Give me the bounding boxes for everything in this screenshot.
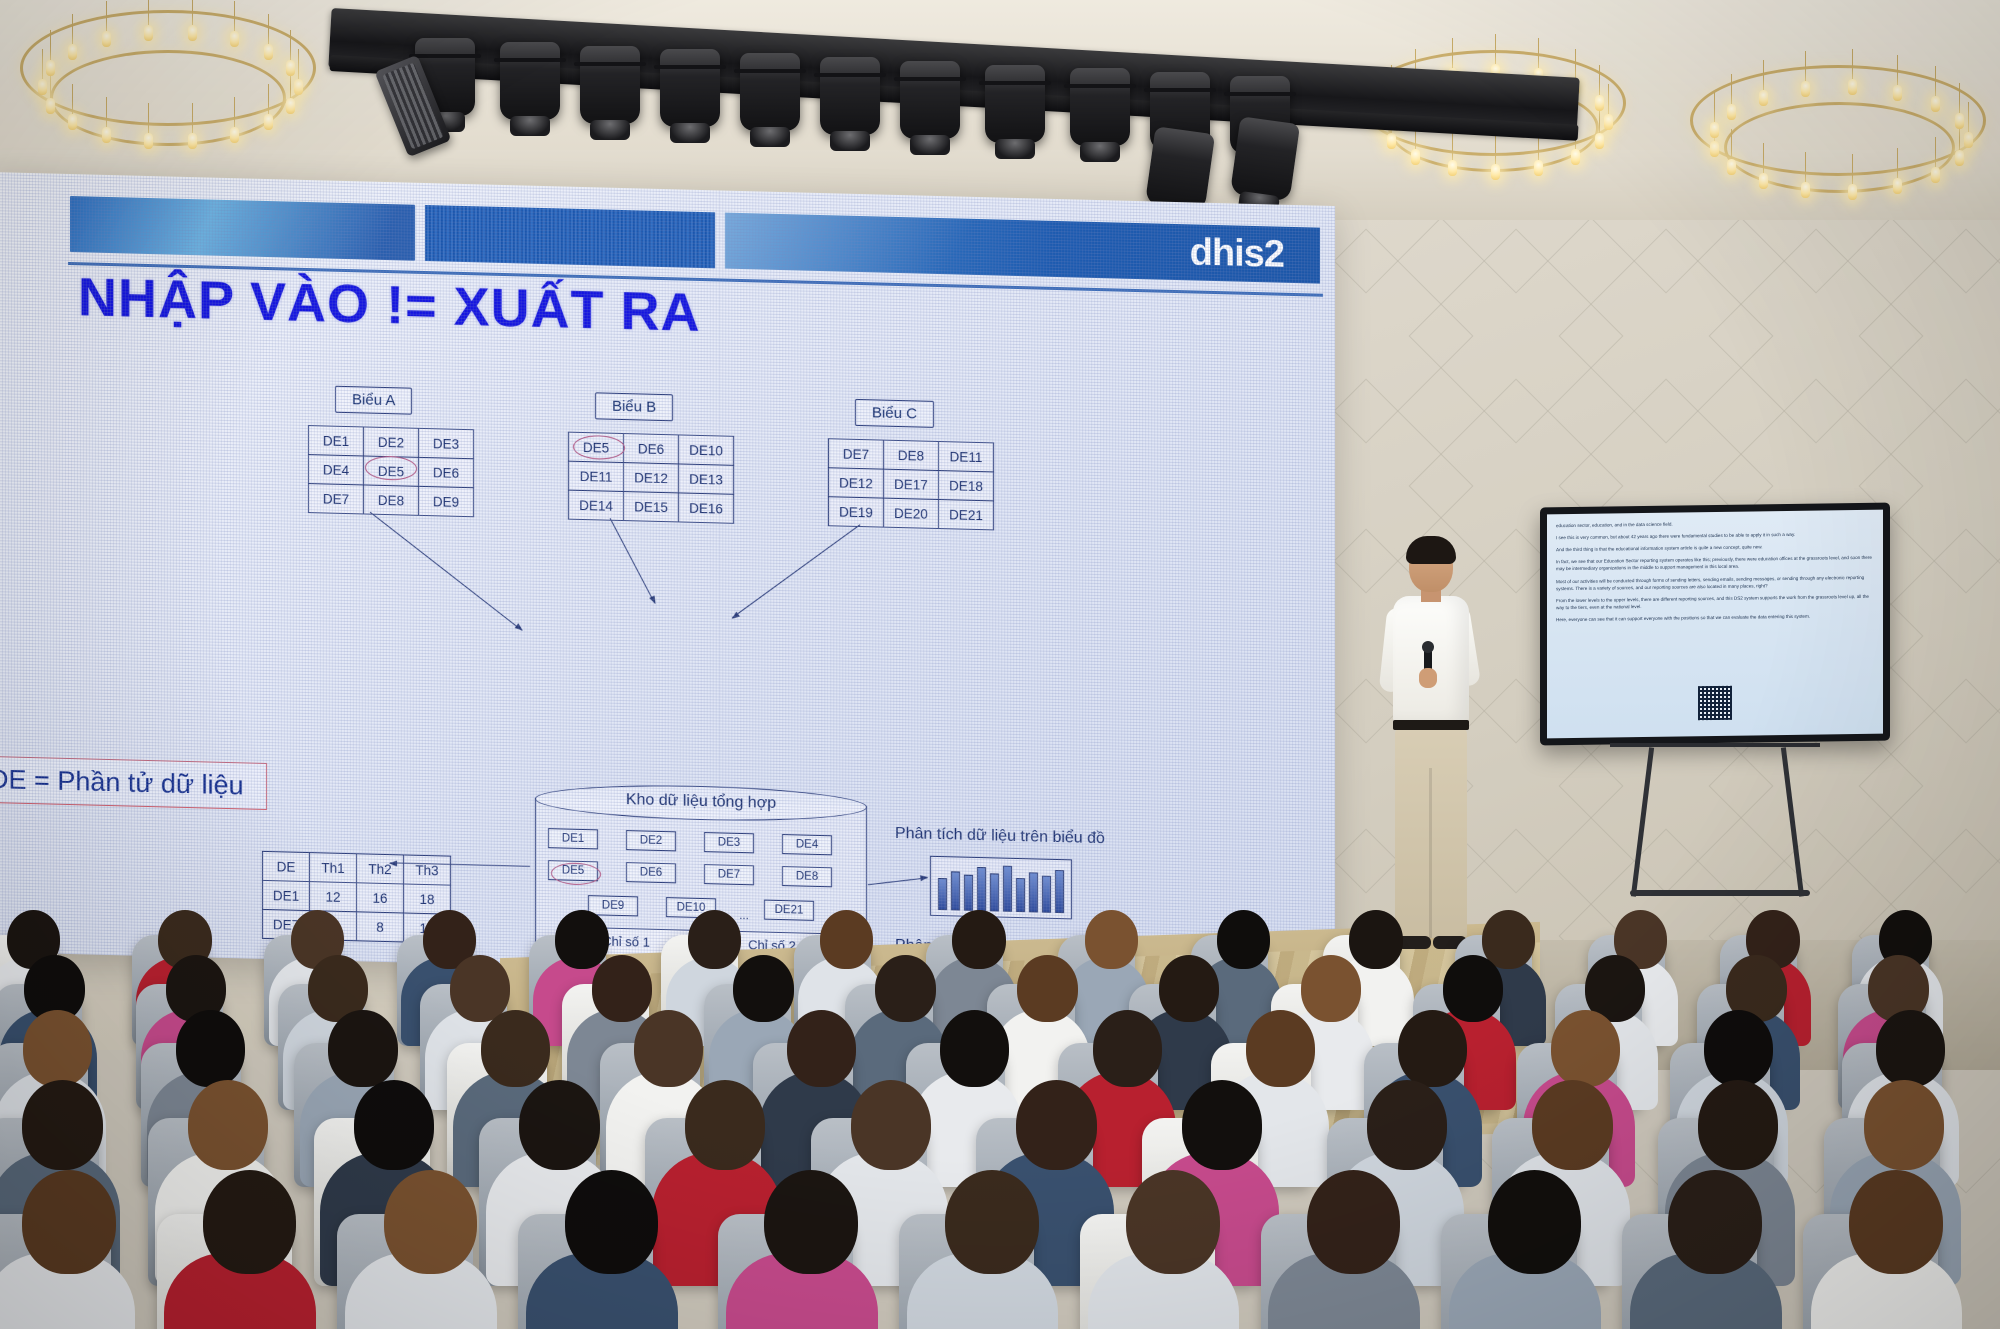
chandelier-wire: [234, 97, 235, 127]
audience-head: [952, 910, 1005, 969]
table-cell: DE9: [419, 486, 474, 516]
light-yoke: [979, 81, 1051, 85]
light-yoke: [894, 77, 966, 81]
table-row: DE7DE8DE9: [309, 484, 474, 517]
chandelier-wire: [1731, 129, 1732, 159]
table-c: DE7DE8DE11DE12DE17DE18DE19DE20DE21: [828, 438, 994, 530]
audience-head: [188, 1080, 269, 1170]
presenter-hair: [1406, 536, 1456, 564]
light-bulb: [1931, 96, 1940, 112]
table-cell: DE15: [624, 492, 679, 522]
chandelier: [20, 0, 320, 160]
audience-head: [1016, 1080, 1097, 1170]
caption-table-a: Biểu A: [335, 386, 412, 415]
table-cell: DE1: [309, 426, 364, 456]
light-bulb: [230, 31, 239, 47]
light-bulb: [1448, 160, 1457, 176]
audience-head: [1668, 1170, 1762, 1274]
chandelier-wire: [298, 49, 299, 79]
chandelier-wire: [1452, 38, 1453, 68]
audience-head: [1307, 1170, 1401, 1274]
warehouse-data-element: DE4: [782, 834, 832, 855]
table-row: DE4DE5DE6: [309, 455, 474, 488]
chandelier-wire: [1495, 34, 1496, 64]
light-bulb: [188, 25, 197, 41]
light-yoke: [494, 58, 566, 62]
tv-caption-line: In fact, we see that our Education Secto…: [1556, 554, 1874, 573]
stage-light: [1070, 68, 1130, 146]
light-yoke: [574, 62, 646, 66]
tv-stand-bar: [1610, 743, 1820, 747]
light-bulb: [1801, 182, 1810, 198]
caption-table-b: Biểu B: [595, 392, 673, 421]
chandelier-wire: [192, 103, 193, 133]
chandelier-wire: [1935, 66, 1936, 96]
audience-member: [1821, 1170, 1951, 1329]
slide-content: dhis2 NHẬP VÀO != XUẤT RA Biểu A Biểu B …: [0, 172, 1335, 986]
audience-head: [1488, 1170, 1582, 1274]
chandelier-wire: [42, 49, 43, 79]
light-bulb: [1411, 149, 1420, 165]
projection-screen: dhis2 NHẬP VÀO != XUẤT RA Biểu A Biểu B …: [0, 172, 1335, 986]
light-bulb: [1893, 85, 1902, 101]
qr-code-icon: [1698, 686, 1732, 720]
audience: [0, 870, 2000, 1329]
light-bulb: [1931, 167, 1940, 183]
table-row: DE5DE6DE10: [569, 432, 734, 465]
audience-head: [1698, 1080, 1779, 1170]
audience-member: [1640, 1170, 1770, 1329]
table-cell: DE7: [829, 439, 884, 469]
light-bulb: [188, 133, 197, 149]
photo-scene: dhis2 NHẬP VÀO != XUẤT RA Biểu A Biểu B …: [0, 0, 2000, 1329]
light-bulb: [264, 44, 273, 60]
light-bulb: [102, 127, 111, 143]
light-bulb: [1491, 164, 1500, 180]
chandelier-wire: [1968, 102, 1969, 132]
table-cell: DE18: [939, 471, 994, 501]
audience-head: [945, 1170, 1039, 1274]
audience-member: [175, 1170, 305, 1329]
tv-screen-content: education sector, education, and in the …: [1547, 510, 1883, 739]
arrow-c-to-warehouse: [732, 524, 860, 618]
light-bulb: [1801, 81, 1810, 97]
chandelier-wire: [234, 1, 235, 31]
chandelier-wire: [1538, 38, 1539, 68]
audience-head: [354, 1080, 435, 1170]
audience-head: [1159, 955, 1219, 1022]
audience-head: [1876, 1010, 1945, 1087]
light-yoke: [814, 73, 886, 77]
chandelier-wire: [268, 84, 269, 114]
tv-caption-line: education sector, education, and in the …: [1556, 518, 1874, 530]
stage-light: [740, 53, 800, 131]
table-cell: DE13: [679, 464, 734, 494]
chandelier-wire: [148, 0, 149, 25]
audience-head: [1246, 1010, 1315, 1087]
light-bulb: [1710, 122, 1719, 138]
light-bulb: [38, 79, 47, 95]
chandelier-wire: [1731, 74, 1732, 104]
light-bulb: [294, 79, 303, 95]
light-bulb: [1848, 184, 1857, 200]
audience-head: [1126, 1170, 1220, 1274]
chandelier-wire: [1897, 148, 1898, 178]
stage-light: [900, 61, 960, 139]
chandelier-wire: [1805, 51, 1806, 81]
tv-caption-line: I see this is very common, but about 42 …: [1556, 530, 1874, 542]
chandelier-wire: [1852, 154, 1853, 184]
chandelier-wire: [1805, 152, 1806, 182]
audience-head: [519, 1080, 600, 1170]
audience-head: [481, 1010, 550, 1087]
light-yoke: [409, 54, 481, 58]
light-yoke: [1064, 84, 1136, 88]
audience-head: [1367, 1080, 1448, 1170]
chandelier-wire: [50, 30, 51, 60]
chandelier-wire: [1763, 143, 1764, 173]
arrow-a-to-warehouse: [370, 512, 522, 631]
audience-head: [764, 1170, 858, 1274]
light-bulb: [1893, 178, 1902, 194]
caption-table-c: Biểu C: [855, 399, 934, 428]
table-cell: DE21: [939, 500, 994, 530]
light-bulb: [1534, 160, 1543, 176]
table-cell: DE14: [569, 490, 624, 520]
light-bulb: [286, 98, 295, 114]
table-cell: DE8: [884, 440, 939, 470]
audience-head: [1704, 1010, 1773, 1087]
audience-member: [1460, 1170, 1590, 1329]
chandelier-wire: [1852, 49, 1853, 79]
audience-head: [1532, 1080, 1613, 1170]
table-cell: DE16: [679, 493, 734, 523]
stage-light: [820, 57, 880, 135]
audience-head: [23, 1010, 92, 1087]
audience-head: [203, 1170, 297, 1274]
light-bulb: [68, 114, 77, 130]
chandelier-wire: [148, 103, 149, 133]
tv-caption-line: Most of our activities will be conducted…: [1556, 573, 1874, 592]
table-cell: DE11: [939, 442, 994, 472]
light-bulb: [1848, 79, 1857, 95]
audience-head: [685, 1080, 766, 1170]
chandelier-wire: [72, 84, 73, 114]
stage-light: [660, 49, 720, 127]
light-bulb: [1964, 132, 1973, 148]
stage-light: [580, 46, 640, 124]
audience-member: [536, 1170, 666, 1329]
audience-member: [0, 1170, 124, 1329]
table-row: DE7DE8DE11: [829, 439, 994, 472]
light-bulb: [68, 44, 77, 60]
audience-head: [1093, 1010, 1162, 1087]
audience-head: [1182, 1080, 1263, 1170]
audience-head: [565, 1170, 659, 1274]
chandelier-ring: [50, 50, 286, 146]
stage-light: [1230, 116, 1300, 202]
table-b: DE5DE6DE10DE11DE12DE13DE14DE15DE16: [568, 432, 734, 524]
audience-head: [176, 1010, 245, 1087]
audience-head: [1551, 1010, 1620, 1087]
tv-caption-line: From the lower levels to the upper level…: [1556, 593, 1874, 612]
light-bulb: [46, 60, 55, 76]
chandelier-wire: [1935, 137, 1936, 167]
stage-light: [985, 65, 1045, 143]
table-cell: DE12: [624, 463, 679, 493]
stage-light: [1145, 126, 1215, 212]
audience-head: [1849, 1170, 1943, 1274]
table-cell: DE8: [364, 485, 419, 515]
table-cell: DE12: [829, 468, 884, 498]
table-row: DE19DE20DE21: [829, 497, 994, 530]
chandelier-wire: [1897, 55, 1898, 85]
tv-caption-line: Here, everyone can see that it can suppo…: [1556, 612, 1874, 624]
table-cell: DE5: [364, 456, 419, 486]
presenter-belt: [1393, 720, 1469, 730]
audience-head: [22, 1080, 103, 1170]
audience-member: [1098, 1170, 1228, 1329]
table-row: DE1DE2DE3: [309, 426, 474, 459]
light-bulb: [1727, 159, 1736, 175]
audience-head: [384, 1170, 478, 1274]
banner-image-left: [70, 196, 415, 261]
light-bulb: [1604, 114, 1613, 130]
audience-head: [1864, 1080, 1945, 1170]
audience-head: [1217, 910, 1270, 969]
light-bulb: [1759, 173, 1768, 189]
light-bulb: [102, 31, 111, 47]
light-yoke: [1224, 92, 1296, 96]
audience-head: [1398, 1010, 1467, 1087]
light-bulb: [1710, 141, 1719, 157]
light-bulb: [144, 25, 153, 41]
light-bulb: [1727, 104, 1736, 120]
light-yoke: [1144, 88, 1216, 92]
chandelier-wire: [1959, 83, 1960, 113]
light-bulb: [1955, 113, 1964, 129]
table-cell: DE4: [309, 455, 364, 485]
chandelier-wire: [192, 0, 193, 25]
table-row: DE14DE15DE16: [569, 490, 734, 523]
light-bulb: [46, 98, 55, 114]
table-row: DE12DE17DE18: [829, 468, 994, 501]
table-cell: DE6: [419, 457, 474, 487]
chandelier-wire: [1714, 92, 1715, 122]
table-cell: DE5: [569, 432, 624, 462]
table-cell: DE17: [884, 469, 939, 499]
table-cell: DE7: [309, 484, 364, 514]
chandelier-wire: [1495, 134, 1496, 164]
chandelier-wire: [1599, 65, 1600, 95]
light-bulb: [1955, 150, 1964, 166]
table-cell: DE10: [679, 435, 734, 465]
chandelier-wire: [290, 30, 291, 60]
chandelier-wire: [1608, 84, 1609, 114]
audience-member: [917, 1170, 1047, 1329]
audience-head: [1085, 910, 1138, 969]
audience-member: [736, 1170, 866, 1329]
table-cell: DE3: [419, 428, 474, 458]
caption-display-tv: education sector, education, and in the …: [1540, 503, 1890, 746]
light-yoke: [654, 65, 726, 69]
audience-head: [940, 1010, 1009, 1087]
audience-member: [1279, 1170, 1409, 1329]
light-bulb: [1387, 133, 1396, 149]
light-bulb: [286, 60, 295, 76]
audience-head: [22, 1170, 116, 1274]
audience-head: [634, 1010, 703, 1087]
dhis2-logo: dhis2: [1190, 231, 1284, 276]
audience-head: [328, 1010, 397, 1087]
chandelier-wire: [106, 1, 107, 31]
light-bulb: [264, 114, 273, 130]
table-cell: DE20: [884, 498, 939, 528]
light-bulb: [1595, 95, 1604, 111]
light-bulb: [1759, 90, 1768, 106]
table-a: DE1DE2DE3DE4DE5DE6DE7DE8DE9: [308, 425, 474, 517]
warehouse-data-element: DE1: [548, 828, 598, 849]
audience-head: [1017, 955, 1077, 1022]
table-cell: DE2: [364, 427, 419, 457]
audience-head: [851, 1080, 932, 1170]
stage-light: [500, 42, 560, 120]
table-cell: DE19: [829, 497, 884, 527]
light-bulb: [230, 127, 239, 143]
presenter-hand: [1419, 668, 1437, 688]
chandelier-wire: [1763, 60, 1764, 90]
chandelier-wire: [268, 14, 269, 44]
light-bulb: [1571, 149, 1580, 165]
light-bulb: [1595, 133, 1604, 149]
audience-member: [356, 1170, 486, 1329]
chandelier-wire: [1575, 49, 1576, 79]
tv-caption-line: And the third thing is that the educatio…: [1556, 542, 1874, 554]
legend-callout: DE = Phần tử dữ liệu: [0, 755, 267, 810]
warehouse-data-element: DE3: [704, 832, 754, 853]
chandelier-wire: [72, 14, 73, 44]
warehouse-data-element: DE2: [626, 830, 676, 851]
chandelier-wire: [1452, 130, 1453, 160]
table-row: DE11DE12DE13: [569, 461, 734, 494]
chandelier-wire: [106, 97, 107, 127]
table-cell: DE11: [569, 461, 624, 491]
chart-analysis-label: Phân tích dữ liệu trên biểu đồ: [895, 825, 1105, 848]
banner-image-middle: [425, 205, 715, 268]
table-cell: DE6: [624, 434, 679, 464]
chandelier: [1690, 30, 1990, 205]
arrow-b-to-warehouse: [609, 518, 655, 604]
audience-head: [787, 1010, 856, 1087]
light-bulb: [144, 133, 153, 149]
light-yoke: [734, 69, 806, 73]
banner-image-right: dhis2: [725, 213, 1320, 284]
